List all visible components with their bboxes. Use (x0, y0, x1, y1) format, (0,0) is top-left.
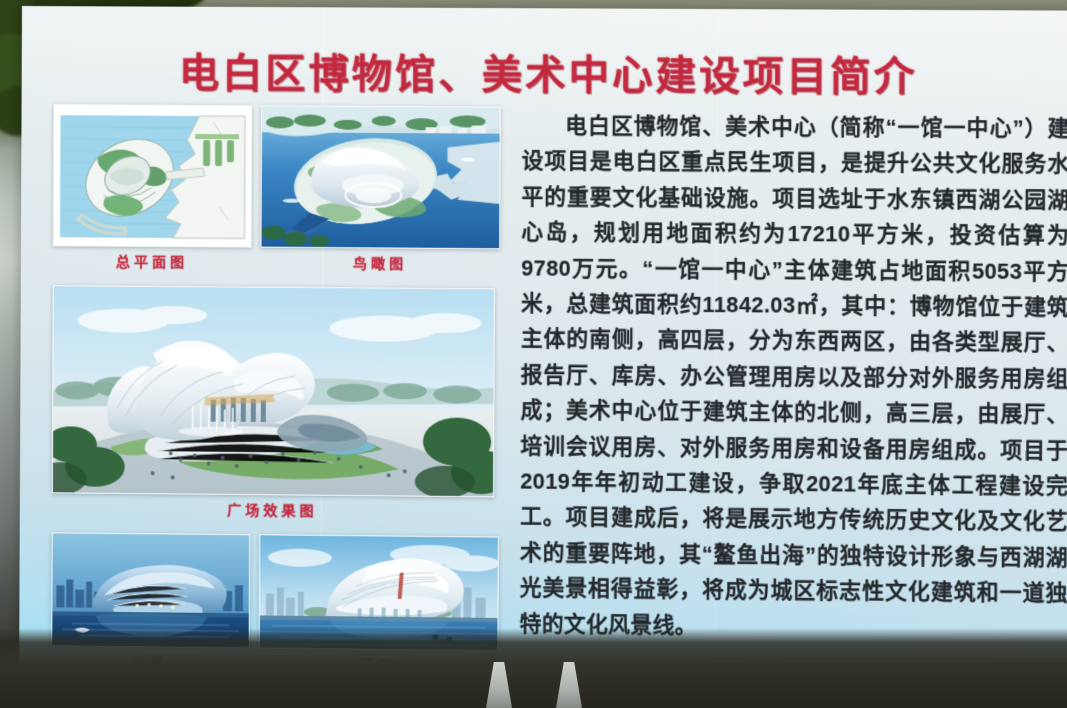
caption-site-plan: 总平面图 (53, 251, 252, 272)
project-description: 电白区博物馆、美术中心（简称“一馆一中心”）建设项目是电白区重点民生项目，是提升… (520, 109, 1067, 648)
aerial-view-artwork (261, 106, 499, 248)
figure-site-plan: ··· 总平面图 (53, 104, 252, 272)
photo-scene: 电白区博物馆、美术中心建设项目简介 (0, 0, 1067, 708)
image-aerial-view[interactable] (260, 105, 500, 249)
image-column: ··· 总平面图 (51, 104, 501, 676)
image-row-top: ··· 总平面图 (53, 104, 501, 274)
image-site-plan[interactable]: ··· (53, 104, 252, 247)
caption-plaza-view: 广场效果图 (52, 498, 494, 522)
figure-aerial-view: 鸟瞰图 (260, 105, 500, 274)
plaza-view-artwork (53, 286, 494, 496)
project-signboard: 电白区博物馆、美术中心建设项目简介 (19, 6, 1067, 708)
caption-aerial-view: 鸟瞰图 (260, 253, 500, 275)
page-title: 电白区博物馆、美术中心建设项目简介 (22, 40, 1067, 104)
ground-shadow (0, 628, 1067, 708)
svg-text:·: · (84, 145, 85, 150)
svg-text:·: · (123, 222, 124, 227)
figure-plaza-view: 广场效果图 (52, 285, 495, 522)
site-plan-artwork: ··· (54, 105, 251, 246)
svg-text:·: · (154, 132, 155, 137)
image-plaza-view[interactable] (52, 285, 495, 497)
